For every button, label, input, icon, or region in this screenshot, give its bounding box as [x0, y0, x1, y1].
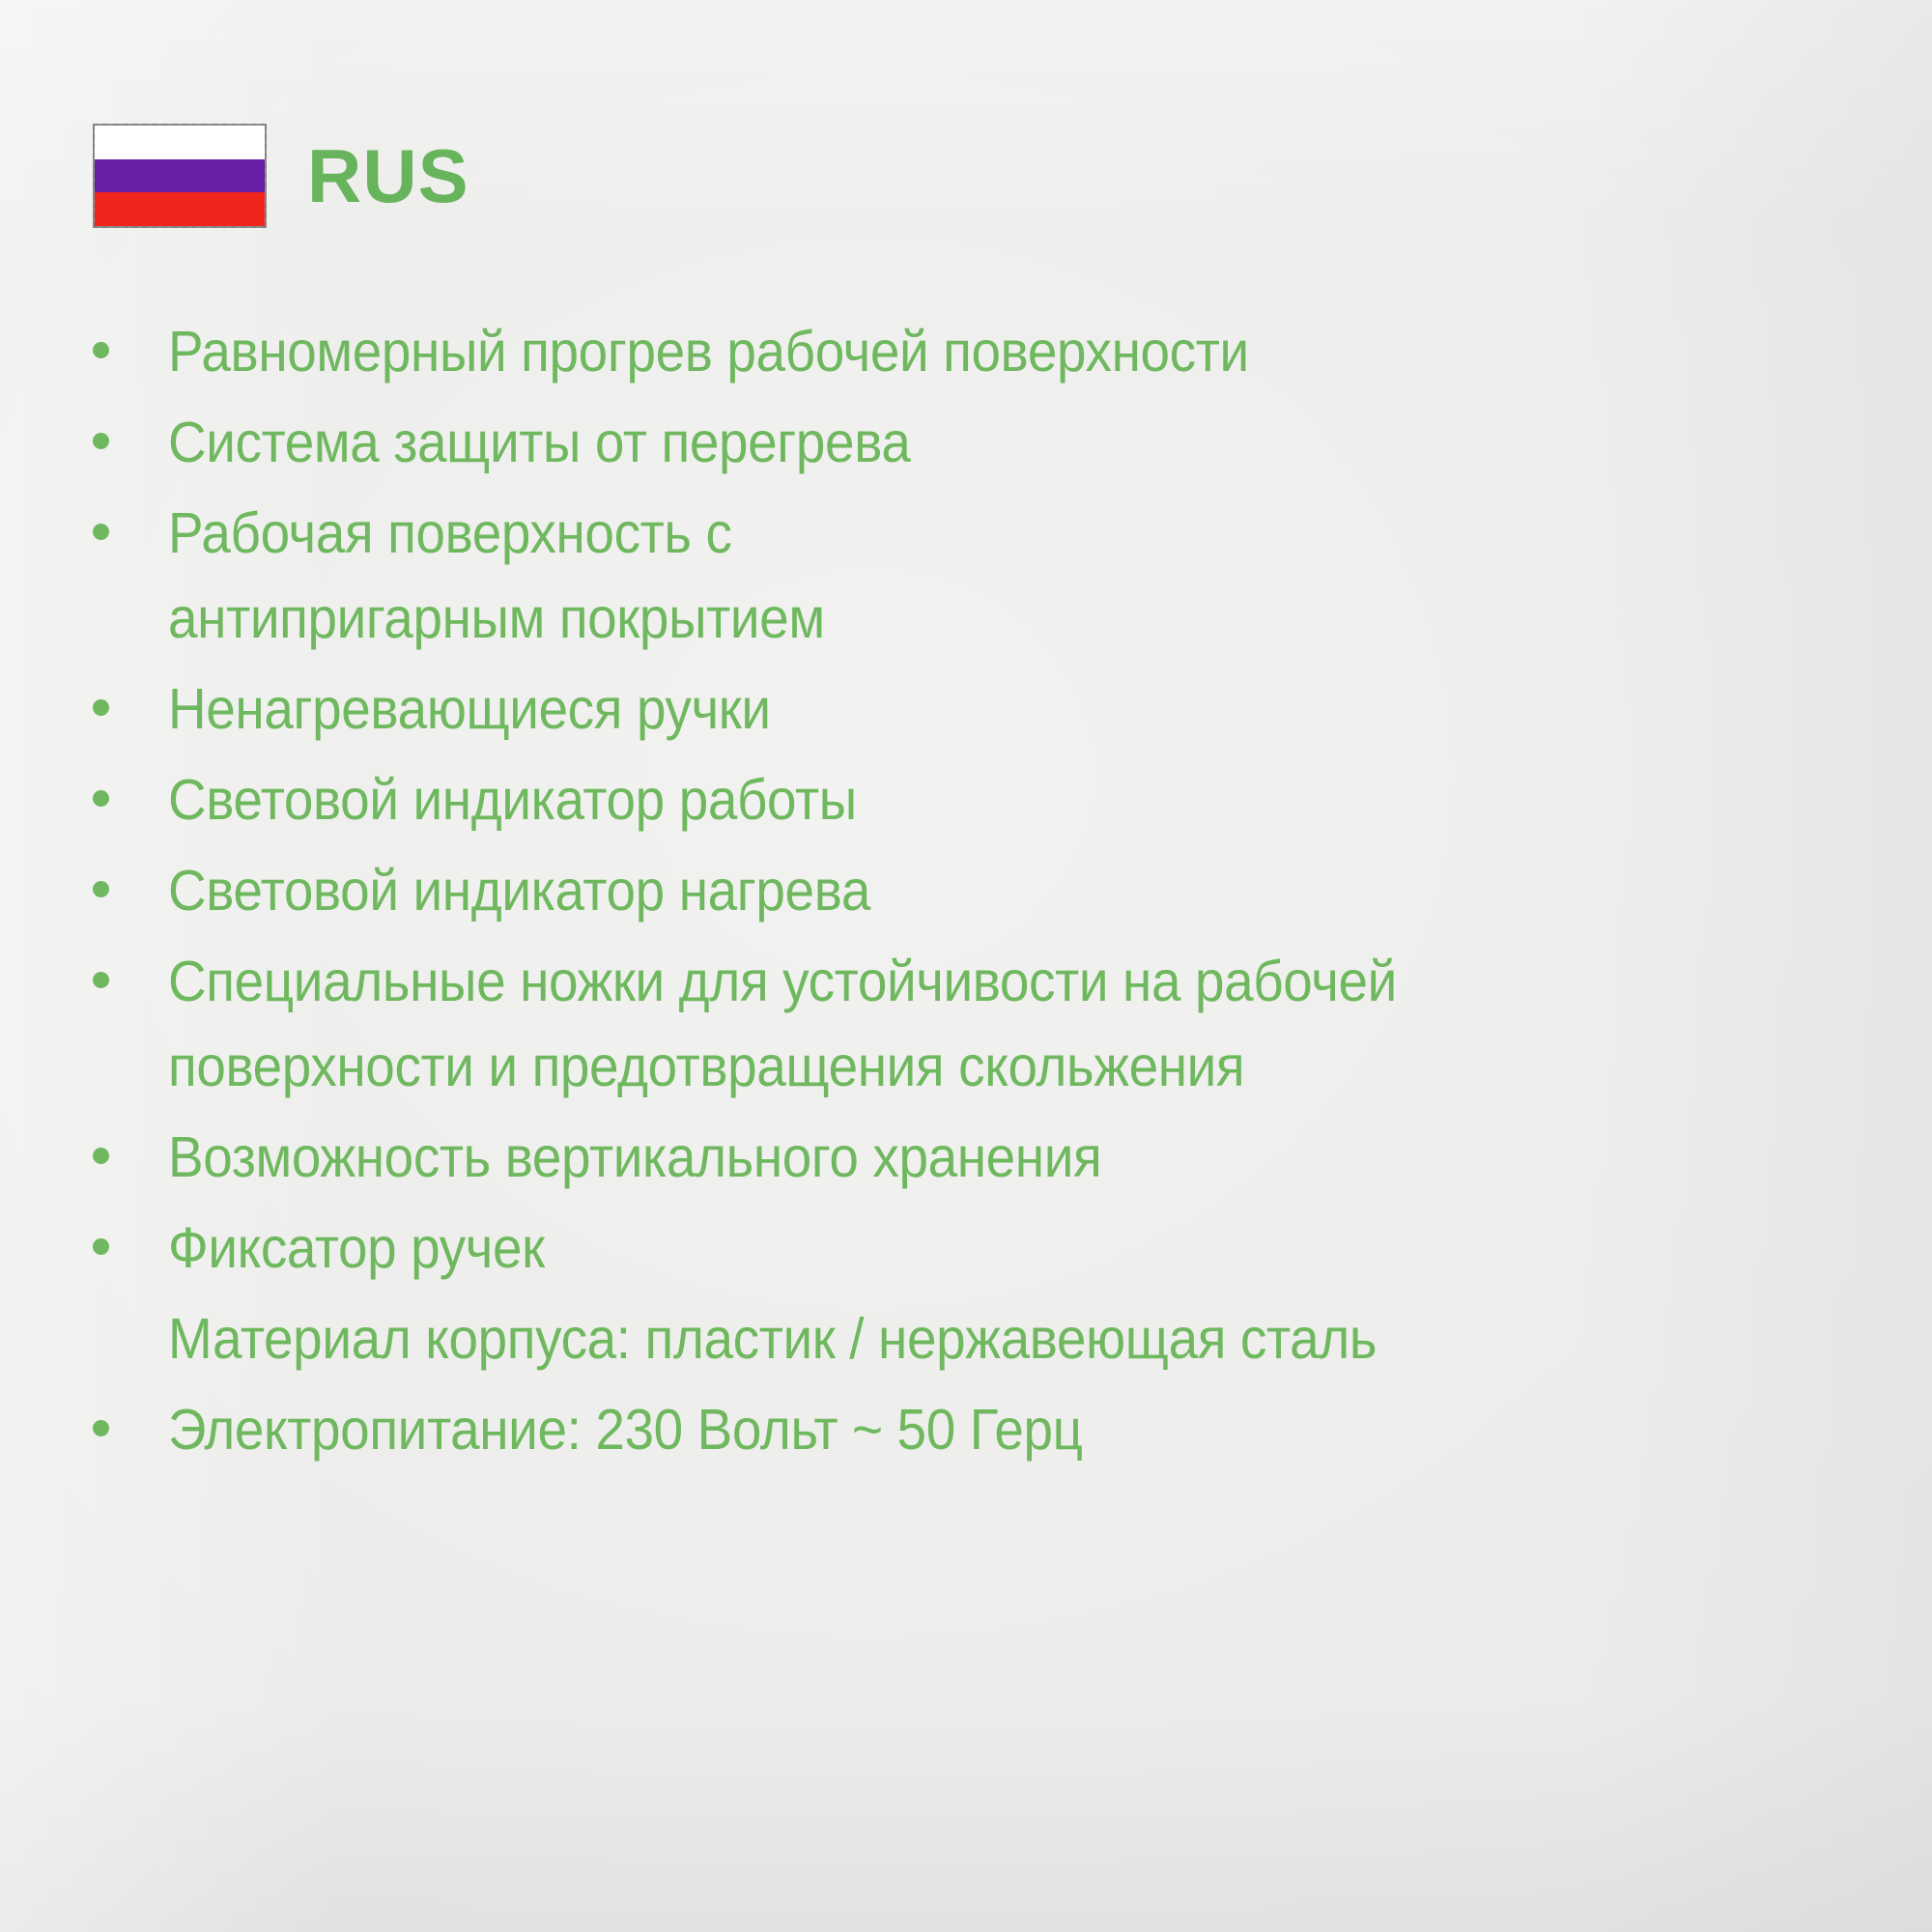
bullet-dot	[93, 1148, 109, 1164]
bullet-dot	[93, 524, 109, 540]
bullet-icon	[93, 400, 168, 449]
bullet-dot	[93, 1420, 109, 1436]
feature-item: Световой индикатор нагрева	[93, 848, 1874, 933]
feature-item: Электропитание: 230 Вольт ~ 50 Герц	[93, 1387, 1874, 1472]
feature-text: Возможность вертикального хранения	[168, 1115, 1754, 1200]
bullet-dot	[93, 1329, 109, 1346]
feature-text-line: Система защиты от перегрева	[168, 400, 1754, 485]
feature-text: Рабочая поверхность сантипригарным покры…	[168, 491, 1754, 661]
bullet-dot	[93, 699, 109, 716]
feature-text-line: антипригарным покрытием	[168, 576, 1754, 661]
russian-flag-icon	[93, 124, 267, 228]
feature-text: Специальные ножки для устойчивости на ра…	[168, 939, 1754, 1109]
feature-text: Электропитание: 230 Вольт ~ 50 Герц	[168, 1387, 1754, 1472]
bullet-icon	[93, 757, 168, 807]
bullet-dot	[93, 342, 109, 358]
feature-text: Ненагревающиеся ручки	[168, 667, 1754, 752]
feature-text-line: Электропитание: 230 Вольт ~ 50 Герц	[168, 1387, 1754, 1472]
bullet-dot	[93, 881, 109, 897]
bullet-dot	[93, 1238, 109, 1255]
feature-text-line: Специальные ножки для устойчивости на ра…	[168, 939, 1754, 1024]
language-code-label: RUS	[307, 138, 469, 213]
flag-stripe-white	[95, 126, 265, 159]
label-content: RUS Равномерный прогрев рабочей поверхно…	[0, 0, 1932, 1932]
flag-stripe-blue	[95, 159, 265, 193]
feature-text-line: Световой индикатор нагрева	[168, 848, 1754, 933]
bullet-icon	[93, 939, 168, 988]
bullet-icon	[93, 309, 168, 358]
feature-item: Фиксатор ручек	[93, 1206, 1874, 1291]
feature-text: Фиксатор ручек	[168, 1206, 1754, 1291]
bullet-icon	[93, 667, 168, 716]
bullet-icon	[93, 1387, 168, 1436]
feature-item: Рабочая поверхность сантипригарным покры…	[93, 491, 1874, 661]
feature-item: Ненагревающиеся ручки	[93, 667, 1874, 752]
bullet-dot	[93, 433, 109, 449]
feature-text-line: Возможность вертикального хранения	[168, 1115, 1754, 1200]
feature-text: Световой индикатор нагрева	[168, 848, 1754, 933]
bullet-icon	[93, 848, 168, 897]
bullet-icon	[93, 491, 168, 540]
feature-text-line: Равномерный прогрев рабочей поверхности	[168, 309, 1754, 394]
bullet-icon	[93, 1206, 168, 1255]
bullet-dot	[93, 790, 109, 807]
bullet-spacer	[93, 1296, 168, 1346]
feature-text-line: Фиксатор ручек	[168, 1206, 1754, 1291]
feature-item: Равномерный прогрев рабочей поверхности	[93, 309, 1874, 394]
bullet-dot	[93, 972, 109, 988]
feature-item: Материал корпуса: пластик / нержавеющая …	[93, 1296, 1874, 1381]
feature-text: Система защиты от перегрева	[168, 400, 1754, 485]
feature-text-line: поверхности и предотвращения скольжения	[168, 1024, 1754, 1109]
feature-text-line: Световой индикатор работы	[168, 757, 1754, 842]
bullet-icon	[93, 1115, 168, 1164]
feature-text-line: Материал корпуса: пластик / нержавеющая …	[168, 1296, 1754, 1381]
feature-text-line: Ненагревающиеся ручки	[168, 667, 1754, 752]
feature-text: Материал корпуса: пластик / нержавеющая …	[168, 1296, 1754, 1381]
feature-item: Световой индикатор работы	[93, 757, 1874, 842]
flag-stripe-red	[95, 192, 265, 226]
language-header: RUS	[93, 124, 469, 228]
feature-item: Система защиты от перегрева	[93, 400, 1874, 485]
feature-text: Световой индикатор работы	[168, 757, 1754, 842]
feature-item: Возможность вертикального хранения	[93, 1115, 1874, 1200]
feature-text-line: Рабочая поверхность с	[168, 491, 1754, 576]
feature-list: Равномерный прогрев рабочей поверхностиС…	[93, 309, 1874, 1478]
feature-text: Равномерный прогрев рабочей поверхности	[168, 309, 1754, 394]
feature-item: Специальные ножки для устойчивости на ра…	[93, 939, 1874, 1109]
